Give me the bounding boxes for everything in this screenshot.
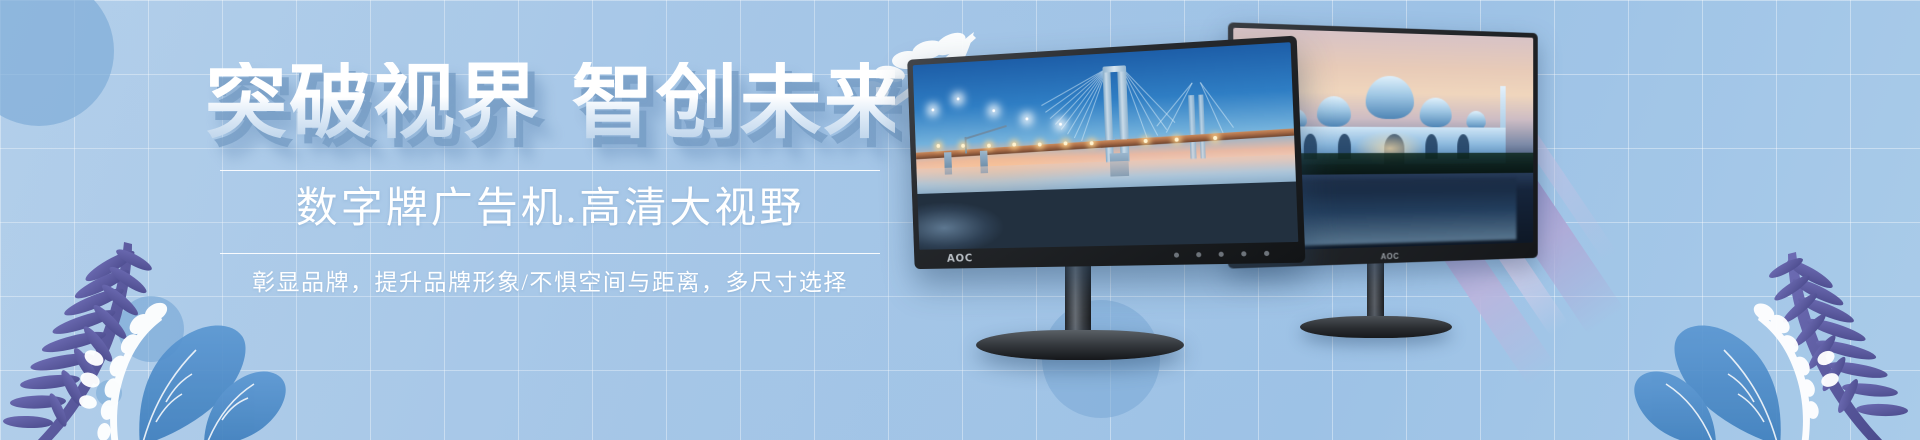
- arch-1: [1304, 133, 1317, 159]
- divider-bottom: [220, 253, 880, 254]
- dome-left: [1317, 96, 1351, 127]
- control-button-2[interactable]: [1196, 252, 1201, 257]
- control-button-1[interactable]: [1174, 253, 1179, 258]
- back-monitor-stand-neck: [1367, 258, 1384, 322]
- arch-2: [1338, 133, 1350, 159]
- banner-text-block: 突破视界 智创未来 数字牌广告机.高清大视野 彰显品牌，提升品牌形象/不惧空间与…: [205, 62, 895, 298]
- front-monitor-brand-logo: AOC: [947, 252, 973, 265]
- circle-decor-top-left: [0, 0, 114, 126]
- divider-top: [220, 170, 880, 171]
- bridge-scene-image: [913, 42, 1299, 250]
- control-button-4[interactable]: [1241, 251, 1246, 256]
- control-button-3[interactable]: [1219, 252, 1224, 257]
- control-button-5[interactable]: [1264, 251, 1269, 256]
- banner-tagline: 彰显品牌，提升品牌形象/不惧空间与距离，多尺寸选择: [205, 268, 895, 298]
- front-monitor-stand-base: [976, 330, 1184, 360]
- banner-subtitle: 数字牌广告机.高清大视野: [205, 183, 895, 237]
- back-monitor-stand-base: [1300, 316, 1452, 338]
- dome-right: [1420, 98, 1452, 128]
- front-monitor-screen: [913, 42, 1299, 250]
- promo-banner: 突破视界 智创未来 数字牌广告机.高清大视野 彰显品牌，提升品牌形象/不惧空间与…: [0, 0, 1920, 440]
- rocky-shoreline: [913, 182, 1299, 250]
- dome-main: [1366, 75, 1414, 118]
- page-title: 突破视界 智创未来: [205, 62, 895, 144]
- light-flare-4: [1026, 117, 1029, 120]
- front-monitor: AOC: [907, 36, 1305, 270]
- front-monitor-stand-neck: [1065, 258, 1091, 338]
- foliage-decor-bottom-left: [0, 196, 290, 440]
- foliage-decor-bottom-right: [1630, 196, 1920, 440]
